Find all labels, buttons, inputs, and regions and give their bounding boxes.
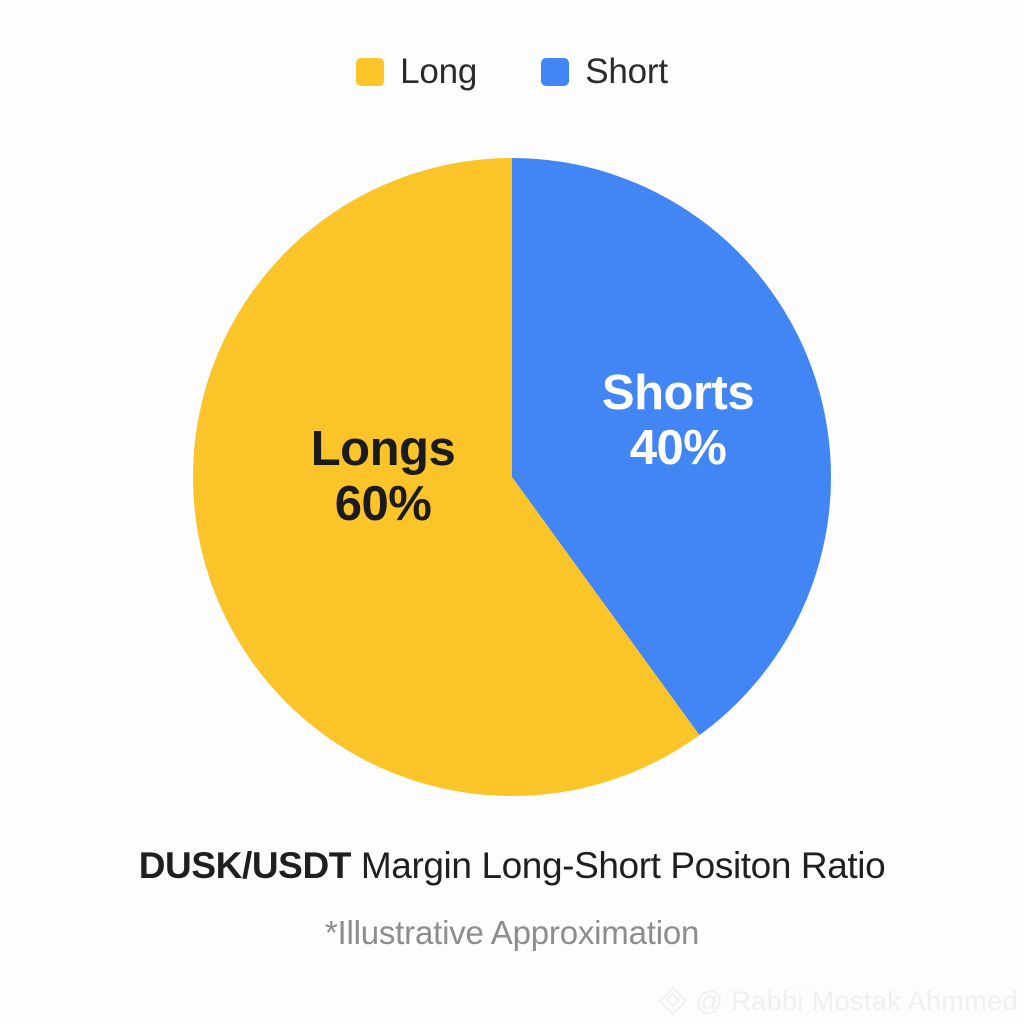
watermark-text: @ Rabbi Mostak Ahmmed — [696, 986, 1018, 1017]
pie-chart: Longs 60% Shorts 40% — [193, 158, 831, 796]
chart-legend: Long Short — [0, 54, 1024, 89]
legend-item-long[interactable]: Long — [356, 54, 477, 89]
pie-chart-svg — [193, 158, 831, 796]
diamond-logo-icon — [656, 984, 690, 1018]
legend-swatch-long-icon — [356, 58, 384, 86]
watermark: @ Rabbi Mostak Ahmmed — [656, 984, 1018, 1018]
legend-swatch-short-icon — [541, 58, 569, 86]
chart-caption: DUSK/USDT Margin Long-Short Positon Rati… — [0, 845, 1024, 887]
caption-symbol: DUSK/USDT — [139, 845, 351, 886]
chart-subtitle: *Illustrative Approximation — [0, 914, 1024, 952]
caption-description: Margin Long-Short Positon Ratio — [351, 845, 885, 886]
chart-canvas: Long Short Longs 60% Shorts 40% DUSK/USD… — [0, 0, 1024, 1024]
legend-label-long: Long — [400, 54, 477, 89]
legend-label-short: Short — [585, 54, 668, 89]
legend-item-short[interactable]: Short — [541, 54, 668, 89]
